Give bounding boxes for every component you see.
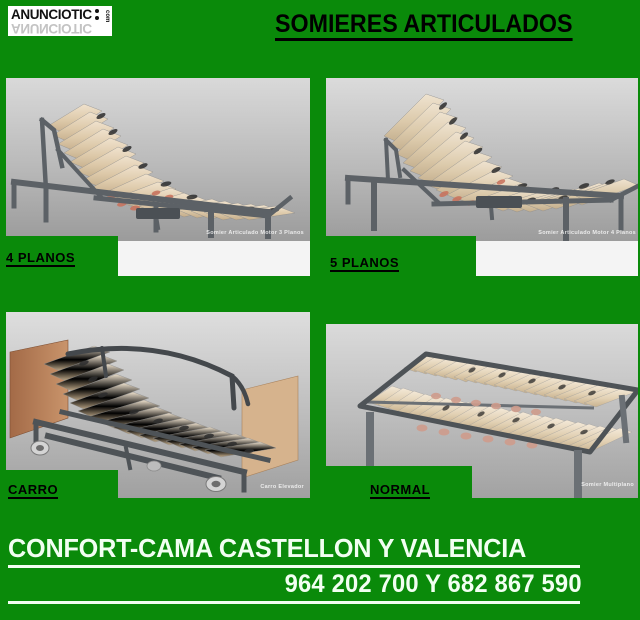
logo-dots-icon	[95, 9, 99, 13]
logo-wordmark-reflection: ANUNCIOTIC	[11, 21, 92, 36]
photo-watermark: Somier Articulado Motor 4 Planos	[538, 230, 636, 236]
footer-divider-bottom	[8, 601, 580, 604]
category-label-normal[interactable]: NORMAL	[370, 482, 430, 499]
category-label-5-planos[interactable]: 5 PLANOS	[330, 255, 399, 272]
articulated-bed-icon	[6, 78, 310, 241]
photo-watermark: Somier Articulado Motor 3 Planos	[206, 230, 304, 236]
company-name: CONFORT-CAMA CASTELLON Y VALENCIA	[8, 533, 526, 564]
logo-com-suffix: com	[104, 10, 110, 22]
anunciotic-logo[interactable]: ANUNCIOTIC ANUNCIOTIC com	[8, 6, 112, 36]
photo-watermark: Carro Elevador	[260, 484, 304, 490]
advert-canvas: ANUNCIOTIC ANUNCIOTIC com SOMIERES ARTIC…	[0, 0, 640, 620]
category-label-carro[interactable]: CARRO	[8, 482, 58, 499]
phone-numbers[interactable]: 964 202 700 Y 682 867 590	[285, 570, 582, 599]
photo-backdrop	[6, 78, 310, 241]
category-label-4-planos[interactable]: 4 PLANOS	[6, 250, 75, 267]
footer-divider-top	[8, 565, 580, 568]
logo-wordmark: ANUNCIOTIC	[11, 7, 92, 22]
page-title: SOMIERES ARTICULADOS	[275, 11, 573, 41]
photo-watermark: Somier Multiplano	[581, 482, 634, 488]
articulated-bed-icon	[326, 78, 638, 241]
photo-backdrop	[326, 78, 638, 241]
